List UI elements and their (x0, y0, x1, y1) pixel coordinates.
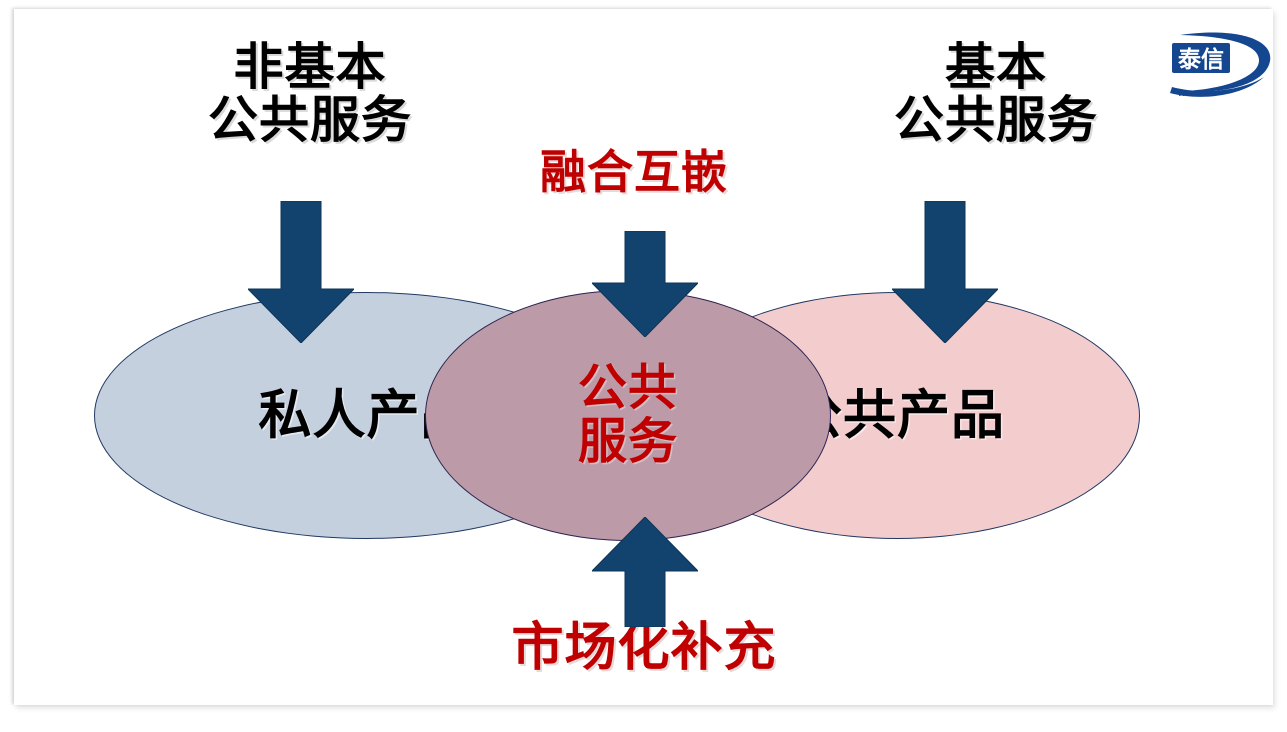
ellipse-public-services-label-line1: 公共 (426, 361, 830, 416)
arrow-down-center (592, 231, 698, 337)
callout-non-basic-public-services: 非基本 公共服务 (140, 41, 480, 147)
company-logo: 泰信 TAIXIN (1158, 29, 1273, 101)
callout-integration: 融合互嵌 (484, 148, 784, 197)
ellipse-public-services-label: 公共 服务 (426, 361, 830, 471)
arrow-up-bottom (592, 517, 698, 627)
callout-non-basic-line1: 非基本 (140, 41, 480, 94)
company-logo-romanization: TAIXIN (1177, 90, 1210, 98)
slide-canvas: 私人产品 公共产品 公共 服务 非基本 公共服务 基本 公共服务 融合互嵌 市场… (14, 9, 1273, 705)
callout-basic-line1: 基本 (826, 41, 1166, 94)
callout-integration-line1: 融合互嵌 (484, 148, 784, 197)
ellipse-public-services-label-line2: 服务 (426, 416, 830, 471)
callout-market-supplement-line1: 市场化补充 (444, 621, 844, 676)
callout-basic-line2: 公共服务 (826, 94, 1166, 147)
callout-market-supplement: 市场化补充 (444, 621, 844, 676)
company-logo-wordmark: 泰信 (1177, 46, 1224, 73)
callout-non-basic-line2: 公共服务 (140, 94, 480, 147)
arrow-down-left (248, 201, 354, 343)
arrow-down-right (892, 201, 998, 343)
callout-basic-public-services: 基本 公共服务 (826, 41, 1166, 147)
